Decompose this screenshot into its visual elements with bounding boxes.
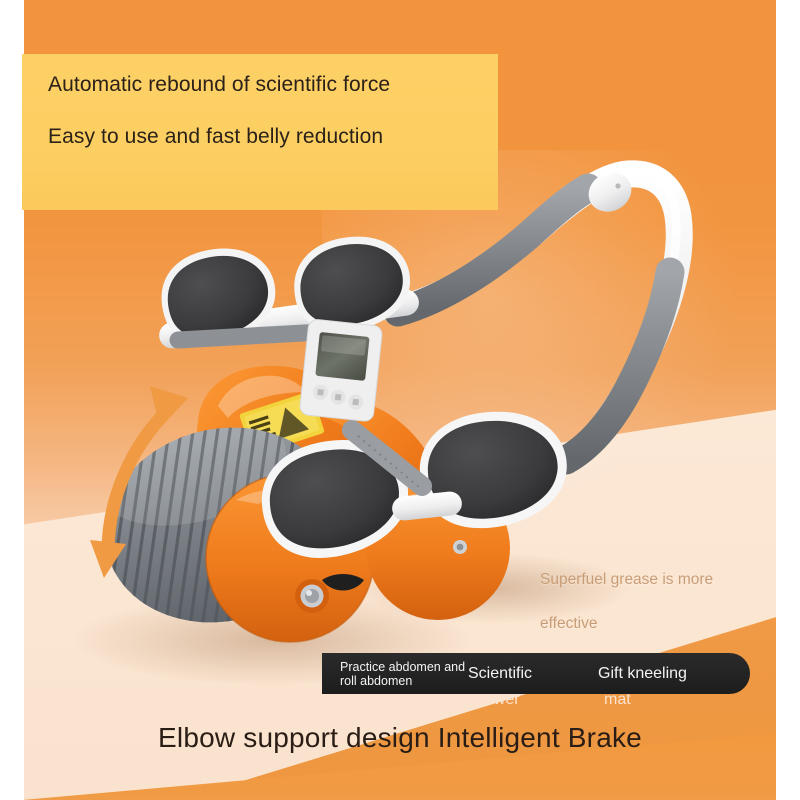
feature-item-gift: Gift kneeling bbox=[598, 667, 687, 681]
feature-item-practice: Practice abdomen and roll abdomen bbox=[340, 660, 468, 688]
feature-item-scientific: Scientific bbox=[468, 667, 598, 681]
secondary-copy: Superfuel grease is more effective bbox=[540, 558, 790, 646]
secondary-copy-line-1: Superfuel grease is more bbox=[540, 571, 713, 588]
feature-pill-banner: Practice abdomen and roll abdomen Scient… bbox=[322, 653, 750, 694]
callout-line-2: Easy to use and fast belly reduction bbox=[48, 124, 472, 150]
secondary-copy-line-2: effective bbox=[540, 602, 790, 646]
callout-line-1: Automatic rebound of scientific force bbox=[48, 72, 472, 98]
bottom-headline: Elbow support design Intelligent Brake bbox=[0, 722, 800, 754]
product-poster: Automatic rebound of scientific force Ea… bbox=[0, 0, 800, 800]
left-margin bbox=[0, 0, 24, 800]
right-margin bbox=[776, 0, 800, 800]
headline-callout-box: Automatic rebound of scientific force Ea… bbox=[22, 54, 498, 210]
